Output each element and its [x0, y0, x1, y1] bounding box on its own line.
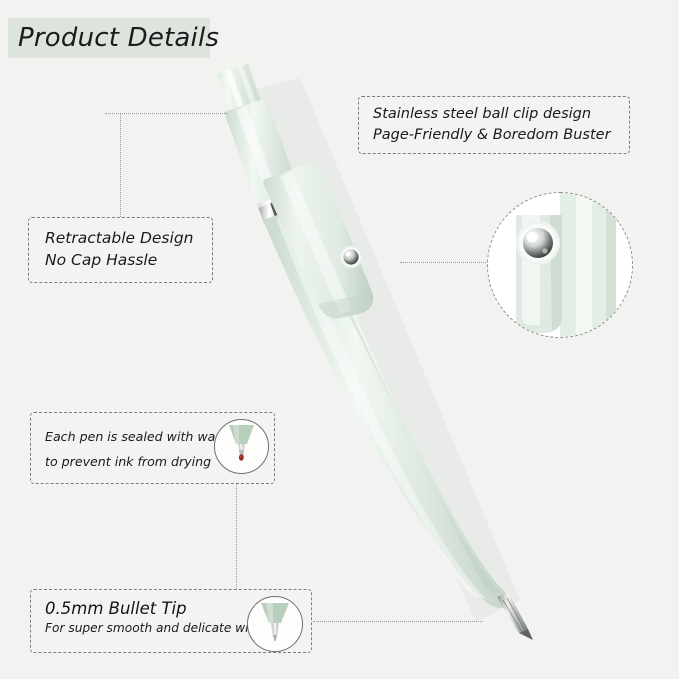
leader-line-wax-vertical — [236, 484, 237, 589]
clip-closeup-illustration — [488, 193, 632, 337]
callout-clip-line-1: Stainless steel ball clip design — [373, 104, 629, 125]
callout-retractable-line-1: Retractable Design — [45, 227, 212, 249]
product-details-infographic: Product Details Retractable Design No Ca… — [0, 0, 679, 679]
leader-line-clip-horizontal — [400, 262, 488, 263]
clip-ball — [340, 246, 363, 269]
leader-line-bullet-horizontal — [313, 621, 483, 622]
callout-retractable-design: Retractable Design No Cap Hassle — [28, 217, 213, 283]
leader-line-retractable-vertical — [120, 113, 121, 217]
callout-ball-clip: Stainless steel ball clip design Page-Fr… — [358, 96, 630, 154]
page-title: Product Details — [18, 23, 219, 53]
page-title-band: Product Details — [8, 18, 210, 58]
leader-line-retractable-horizontal — [105, 113, 227, 114]
wax-seal-tip-inset — [214, 419, 269, 474]
wax-seal-tip-icon — [215, 420, 268, 473]
callout-clip-line-2: Page-Friendly & Boredom Buster — [373, 125, 629, 146]
callout-retractable-line-2: No Cap Hassle — [45, 249, 212, 271]
bullet-tip-inset — [247, 596, 303, 652]
clip-closeup-magnifier — [487, 192, 633, 338]
bullet-tip-icon — [248, 597, 302, 651]
